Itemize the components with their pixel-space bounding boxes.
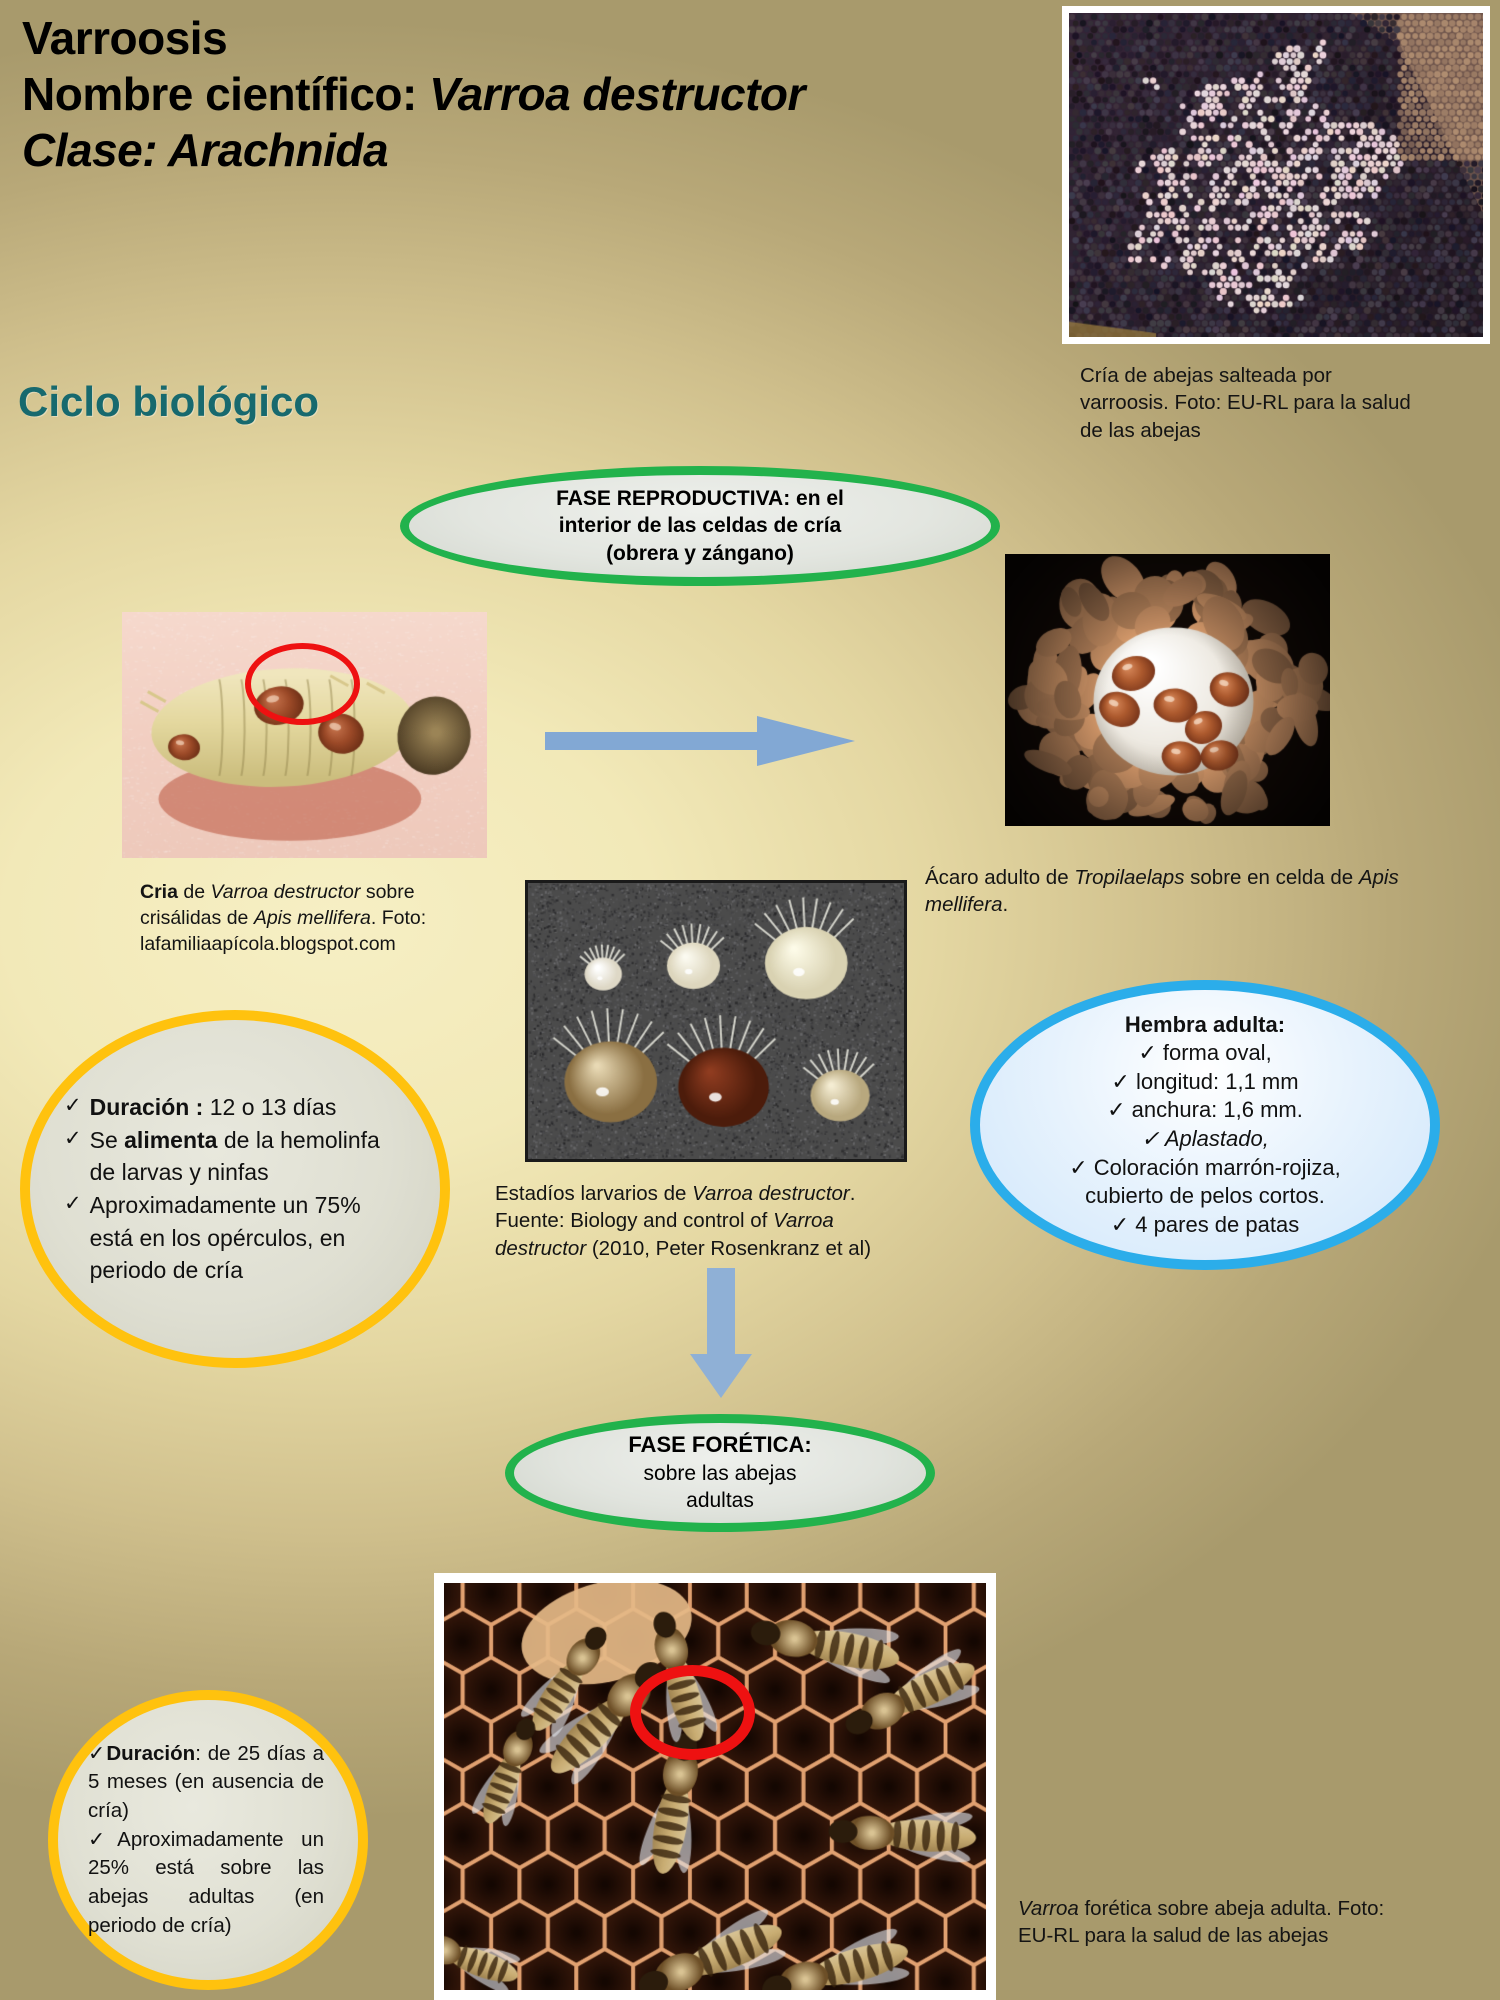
scientific-name-label: Nombre científico: bbox=[22, 68, 429, 120]
arrow-down-icon bbox=[690, 1268, 752, 1398]
bullet-alimenta: ✓ Se alimenta de la hemolinfa de larvas … bbox=[64, 1124, 394, 1189]
photo-bees-on-comb bbox=[434, 1573, 996, 2000]
check-icon: ✓ bbox=[64, 1189, 82, 1219]
caption-pupa-species2: Apis mellifera bbox=[254, 907, 371, 929]
hembra-bullet-longitud: ✓ longitud: 1,1 mm bbox=[994, 1068, 1416, 1097]
caption-stages-pre: Estadíos larvarios de bbox=[495, 1182, 692, 1205]
title-line-2: Nombre científico: Varroa destructor bbox=[22, 66, 1092, 122]
bullet-alimenta-bold: alimenta bbox=[124, 1127, 217, 1153]
title-line-3: Clase: Arachnida bbox=[22, 122, 1092, 178]
section-heading-ciclo-biologico: Ciclo biológico bbox=[18, 378, 319, 426]
hembra-bullet-patas: ✓ 4 pares de patas bbox=[994, 1211, 1416, 1240]
foretica-duracion-label: Duración bbox=[106, 1742, 195, 1765]
arrow-right-icon bbox=[545, 712, 855, 770]
bullet-duracion-label: Duración : bbox=[90, 1094, 210, 1120]
caption-cell-mid: sobre en celda de bbox=[1184, 866, 1358, 889]
hembra-bullet-forma: ✓ forma oval, bbox=[994, 1039, 1416, 1068]
check-icon: ✓ bbox=[88, 1742, 106, 1765]
scientific-name-value: Varroa destructor bbox=[429, 68, 805, 120]
hembra-bullet-anchura: ✓ anchura: 1,6 mm. bbox=[994, 1096, 1416, 1125]
caption-cell: Ácaro adulto de Tropilaelaps sobre en ce… bbox=[925, 864, 1465, 919]
caption-cell-genus: Tropilaelaps bbox=[1074, 866, 1184, 889]
caption-cell-post: . bbox=[1002, 893, 1008, 916]
hembra-bullet-pelos: cubierto de pelos cortos. bbox=[994, 1182, 1416, 1211]
caption-honeycomb: Cría de abejas salteada por varroosis. F… bbox=[1080, 362, 1420, 444]
fase-reproductiva-line-1: FASE REPRODUCTIVA: en el bbox=[423, 485, 977, 512]
photo-larval-stages bbox=[525, 880, 907, 1162]
ellipse-duracion-reproductiva: ✓ Duración : 12 o 13 días ✓ Se alimenta … bbox=[20, 1010, 450, 1368]
photo-pupa-with-mites bbox=[122, 612, 487, 858]
photo-honeycomb-brood bbox=[1062, 6, 1490, 344]
bullet-porcentaje-text: Aproximadamente un 75% está en los opérc… bbox=[90, 1189, 394, 1287]
photo-mites-in-cell bbox=[1005, 554, 1330, 826]
bullet-duracion: ✓ Duración : 12 o 13 días bbox=[64, 1091, 394, 1124]
caption-bees: Varroa forética sobre abeja adulta. Foto… bbox=[1018, 1895, 1418, 1950]
fase-reproductiva-line-2: interior de las celdas de cría bbox=[423, 512, 977, 539]
title-line-1: Varroosis bbox=[22, 10, 1092, 66]
foretica-porcentaje-text: Aproximadamente un 25% está sobre las ab… bbox=[88, 1828, 324, 1937]
caption-pupa: Cria de Varroa destructor sobre crisálid… bbox=[140, 880, 440, 958]
poster-header: Varroosis Nombre científico: Varroa dest… bbox=[22, 10, 1092, 178]
caption-pupa-mid1: de bbox=[178, 881, 211, 903]
bullet-alimenta-text: Se alimenta de la hemolinfa de larvas y … bbox=[90, 1124, 394, 1189]
check-icon: ✓ bbox=[88, 1828, 117, 1851]
bullet-alimenta-pre: Se bbox=[90, 1127, 125, 1153]
fase-foretica-line-3: adultas bbox=[528, 1487, 912, 1514]
bullet-duracion-text: Duración : 12 o 13 días bbox=[90, 1091, 394, 1124]
fase-reproductiva-line-3: (obrera y zángano) bbox=[423, 540, 977, 567]
hembra-adulta-title: Hembra adulta: bbox=[994, 1011, 1416, 1040]
fase-foretica-line-1: FASE FORÉTICA: bbox=[528, 1431, 912, 1460]
caption-cell-pre: Ácaro adulto de bbox=[925, 866, 1074, 889]
caption-stages-source: (2010, Peter Rosenkranz et al) bbox=[586, 1237, 871, 1260]
check-icon: ✓ bbox=[64, 1091, 82, 1121]
caption-stages-species1: Varroa destructor bbox=[692, 1182, 850, 1205]
hembra-bullet-aplastado: ✓ Aplastado, bbox=[994, 1125, 1416, 1154]
foretica-bullet-porcentaje: ✓Aproximadamente un 25% está sobre las a… bbox=[88, 1826, 324, 1941]
check-icon: ✓ bbox=[64, 1124, 82, 1154]
caption-pupa-species1: Varroa destructor bbox=[210, 881, 360, 903]
caption-stages: Estadíos larvarios de Varroa destructor.… bbox=[495, 1180, 915, 1262]
caption-pupa-bold: Cria bbox=[140, 881, 178, 903]
ellipse-hembra-adulta: Hembra adulta: ✓ forma oval, ✓ longitud:… bbox=[970, 980, 1440, 1270]
bullet-duracion-value: 12 o 13 días bbox=[210, 1094, 337, 1120]
ellipse-duracion-foretica: ✓Duración: de 25 días a 5 meses (en ause… bbox=[48, 1690, 368, 1990]
caption-bees-genus: Varroa bbox=[1018, 1897, 1079, 1920]
foretica-bullet-duracion: ✓Duración: de 25 días a 5 meses (en ause… bbox=[88, 1740, 324, 1826]
hembra-bullet-coloracion: ✓ Coloración marrón-rojiza, bbox=[994, 1154, 1416, 1183]
ellipse-fase-reproductiva: FASE REPRODUCTIVA: en el interior de las… bbox=[400, 466, 1000, 586]
bullet-porcentaje: ✓ Aproximadamente un 75% está en los opé… bbox=[64, 1189, 394, 1287]
fase-foretica-line-2: sobre las abejas bbox=[528, 1460, 912, 1487]
ellipse-fase-foretica: FASE FORÉTICA: sobre las abejas adultas bbox=[505, 1414, 935, 1532]
